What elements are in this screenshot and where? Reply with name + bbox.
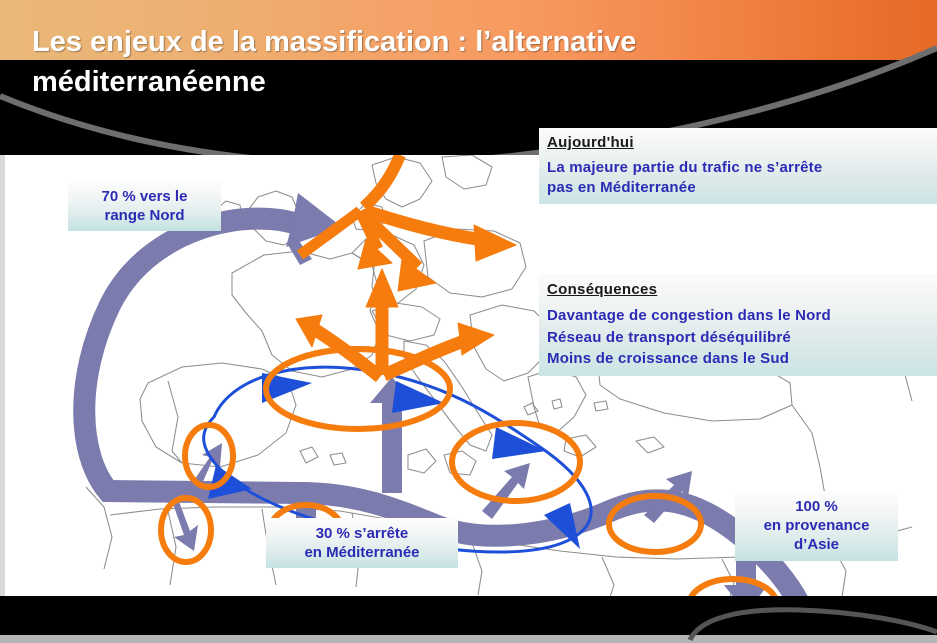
callout-consequences: Conséquences Davantage de congestion dan… [539, 274, 937, 376]
label-north-range-line-2: range Nord [104, 207, 184, 224]
callout-today-line-1: La majeure partie du trafic ne s’arrête [547, 158, 929, 178]
label-north-range-share: 70 % vers le range Nord [68, 181, 221, 231]
callout-today-line-2: pas en Méditerranée [547, 178, 929, 198]
label-north-range-line-1: 70 % vers le [102, 188, 188, 205]
callout-today: Aujourd'hui La majeure partie du trafic … [539, 128, 937, 204]
callout-consequences-line-2: Réseau de transport déséquilibré [547, 327, 929, 348]
callout-consequences-line-3: Moins de croissance dans le Sud [547, 348, 929, 369]
label-asia-line-2: en provenance [764, 517, 870, 534]
callout-consequences-line-1: Davantage de congestion dans le Nord [547, 305, 929, 326]
slide-canvas: Les enjeux de la massification : l’alter… [0, 0, 937, 643]
footer-black-band [0, 596, 937, 635]
callout-consequences-heading: Conséquences [547, 279, 929, 300]
label-asia-line-3: d’Asie [794, 536, 839, 553]
footer-gray-strip [0, 635, 937, 643]
page-title: Les enjeux de la massification : l’alter… [32, 22, 832, 102]
label-mediterranean-line-2: en Méditerranée [304, 544, 419, 561]
label-asia-line-1: 100 % [795, 498, 838, 515]
label-asia-origin-share: 100 % en provenance d’Asie [735, 491, 898, 561]
label-mediterranean-line-1: 30 % s’arrête [316, 525, 409, 542]
label-mediterranean-share: 30 % s’arrête en Méditerranée [266, 518, 458, 568]
northern-range-distribution-arrows [296, 155, 516, 377]
callout-today-heading: Aujourd'hui [547, 133, 929, 153]
